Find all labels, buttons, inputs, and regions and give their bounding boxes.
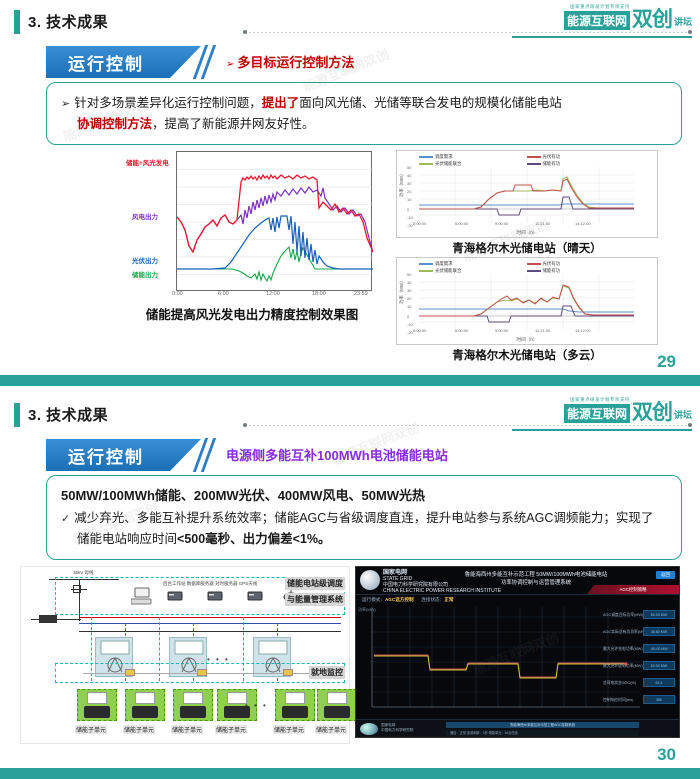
status-conn-value: 正常 <box>444 597 453 602</box>
section-banner-1: 运行控制 ➢多目标运行控制方法 <box>46 46 700 78</box>
header-accent-bar <box>14 403 20 427</box>
legend-label-wind: 风电出力 <box>132 211 158 221</box>
battery-unit-3 <box>173 689 213 721</box>
battery-unit-label-6: 储能子单元 <box>315 725 347 734</box>
chart-right-sunny-xlabel: 时间（h） <box>397 230 657 236</box>
xtick-0: 0:00 <box>172 291 183 297</box>
readout-label-5: 控制响应时间(ms) <box>603 698 633 703</box>
content-box-2: 50MW/100MWh储能、200MW光伏、400MW风电、50MW光热 ✓减少… <box>46 475 682 560</box>
ytick-neg20: -20 <box>407 223 413 228</box>
chart-right-cloudy-plot: 调度需求 光伏有功 光伏储能联合 储能有功 功率（MW） 时间（h） <box>396 257 658 345</box>
battery-unit-2 <box>125 689 165 721</box>
body-text-2a: 储能电站响应时间 <box>77 532 177 546</box>
legend-text-1: 光伏有功 <box>543 154 561 160</box>
brand-logo-main: 能源互联网 双创 讲坛 <box>512 10 692 30</box>
ytick-cneg10: -10 <box>407 322 413 327</box>
storage-station-architecture-diagram: 35kV 母线 后台工作站 数据库服务器 对时服务器 GPS天线 <box>20 566 350 744</box>
brand-name-sm: 讲坛 <box>674 15 692 30</box>
ytick-c30: 30 <box>407 288 411 293</box>
check-icon: ✓ <box>61 513 70 525</box>
xtick-c3: 11:21:00 <box>535 328 550 333</box>
xtick-s2: 9:00:00 <box>495 221 508 226</box>
brand-name-cn: 能源互联网 <box>564 11 630 30</box>
readout-value-0: 50.00 MW <box>643 610 675 619</box>
ytick-cneg20: -20 <box>407 330 413 335</box>
chart-right-sunny: 调度需求 光伏有功 光伏储能联合 储能有功 功率（MW） 时间（h） <box>396 150 658 256</box>
monitor-chart <box>370 607 640 715</box>
brand-name-big: 双创 <box>632 10 672 30</box>
readout-row: AGC调度目标功率(MW) 50.00 MW <box>603 609 675 626</box>
body-title: 50MW/100MWh储能、200MW光伏、400MW风电、50MW光热 <box>61 486 667 506</box>
xtick-1: 6:00 <box>218 291 229 297</box>
xtick-3: 18:00 <box>312 291 326 297</box>
charts-region: 储能+风光发电 风电出力 光伏出力 储能出力 <box>0 145 700 355</box>
chart-left-xaxis: 0:00 6:00 12:00 18:00 23:59 <box>176 291 372 301</box>
banner-slash-icon <box>196 438 218 472</box>
slide-header-2: 3. 技术成果 国家重点研发计划专项支持 能源互联网 双创 讲坛 <box>0 393 700 439</box>
body-paragraph-line1: ✓减少弃光、多能互补提升系统效率；储能AGC与省级调度直连，提升电站参与系统AG… <box>61 508 667 529</box>
local-mon-node-3 <box>283 669 293 676</box>
footer-status-bar: 鲁能海西州多能互补示范工程AGC控制系统 <box>446 722 639 728</box>
battery-unit-label-3: 储能子单元 <box>171 725 203 734</box>
xtick-c1: 6:00:00 <box>455 328 468 333</box>
slide-header: 3. 技术成果 国家重点研发计划专项支持 能源互联网 双创 讲坛 <box>0 0 700 46</box>
legend-label-pv: 光伏出力 <box>132 255 158 265</box>
readout-value-2: -50.00 MW <box>643 644 675 653</box>
section-banner-2: 运行控制 电源侧多能互补100MWh电池储能电站 <box>46 439 700 471</box>
legend-text-0: 调度需求 <box>435 154 453 160</box>
legend-text-c0: 调度需求 <box>435 261 453 267</box>
bullet-icon: ➢ <box>61 98 70 110</box>
page-number-30: 30 <box>657 745 676 765</box>
chart-right-cloudy-xlabel: 时间（h） <box>397 337 657 343</box>
status-mode-value: AGC远方控制 <box>385 597 414 602</box>
ytick-c40: 40 <box>407 280 411 285</box>
slide-29: 3. 技术成果 国家重点研发计划专项支持 能源互联网 双创 讲坛 运行控制 ➢多… <box>0 0 700 386</box>
readout-label-0: AGC调度目标功率(MW) <box>603 613 643 618</box>
brand-name-cn: 能源互联网 <box>564 404 630 423</box>
monitor-readouts-panel: AGC调度目标功率(MW) 50.00 MW AGC实际总有功功率(MW) 48… <box>603 609 675 711</box>
local-mon-node-1 <box>125 669 135 676</box>
body-text-a: 针对多场景差异化运行控制问题， <box>74 96 262 110</box>
content-box-1: ➢针对多场景差异化运行控制问题，提出了面向风光储、光储等联合发电的规模化储能电站… <box>46 82 682 145</box>
local-mon-node-2 <box>197 669 207 676</box>
body-text-1: 减少弃光、多能互补提升系统效率；储能AGC与省级调度直连，提升电站参与系统AGC… <box>74 511 653 525</box>
chart-right-cloudy-caption: 青海格尔木光储电站（多云） <box>396 347 658 363</box>
monitor-back-button[interactable]: 返回 <box>656 571 675 579</box>
xtick-s1: 6:00:00 <box>455 221 468 226</box>
readout-value-3: 50.00 MW <box>643 661 675 670</box>
readout-row: AGC实际总有功功率(MW) 48.60 MW <box>603 626 675 643</box>
footer-status-bar-2: 通信：正常 遥测刷新：1秒 储能单元：36台在线 <box>446 730 639 736</box>
ac-bus <box>79 631 341 632</box>
ytick-c20: 20 <box>407 296 411 301</box>
status-mode-label: 运行模式： <box>362 597 385 602</box>
server-rack-labels: 后台工作站 数据库服务器 对时服务器 GPS天线 <box>163 581 257 587</box>
institute-name-en: CHINA ELECTRIC POWER RESEARCH INSTITUTE <box>383 588 501 594</box>
xtick-s3: 11:21:00 <box>535 221 550 226</box>
xtick-c4: 14:12:00 <box>575 328 591 333</box>
chart-right-cloudy-svg <box>419 274 634 330</box>
monitor-footer: 国家电网 中国电力科学研究院 鲁能海西州多能互补示范工程AGC控制系统 通信：正… <box>356 719 679 737</box>
footer-band-1 <box>0 375 700 386</box>
section-subtitle: ➢多目标运行控制方法 <box>226 52 354 71</box>
readout-row: 控制响应时间(ms) 380 <box>603 694 675 711</box>
xtick-2: 12:00 <box>266 291 280 297</box>
ytick-neg10: -10 <box>407 215 413 220</box>
brand-logo-main: 能源互联网 双创 讲坛 <box>512 403 692 423</box>
battery-unit-label-5: 储能子单元 <box>273 725 305 734</box>
readout-row: 最大允许充电功率(MW) -50.00 MW <box>603 643 675 660</box>
battery-unit-label-2: 储能子单元 <box>123 725 155 734</box>
body-text-highlight-1: 提出了 <box>262 96 300 110</box>
bus-label: 35kV 母线 <box>73 570 94 576</box>
server-icon-3 <box>247 589 263 608</box>
server-icon-1 <box>167 589 183 608</box>
chart-left-svg <box>177 152 373 292</box>
server-icon-2 <box>207 589 223 608</box>
chart-right-sunny-ylabel: 功率（MW） <box>399 172 405 197</box>
state-grid-logo-icon <box>360 570 380 590</box>
diagram-ellipsis-bottom: • • • <box>245 701 268 710</box>
legend-item-c1: 光伏有功 <box>527 261 635 267</box>
section-banner-label: 运行控制 <box>46 46 201 78</box>
monitor-title: 鲁能海西州多能互补示范工程 50MW/100MWh电池储能电站 功率协调控制与运… <box>446 571 626 587</box>
ytick-c50: 50 <box>407 272 411 277</box>
ytick-40: 40 <box>407 173 411 178</box>
chart-left-plot <box>176 151 372 291</box>
ytick-0: 0 <box>407 207 409 212</box>
footer-title-text: 国家电网 <box>381 723 395 727</box>
body-paragraph-line2: 储能电站响应时间<500毫秒、出力偏差<1%。 <box>61 529 667 549</box>
ytick-20: 20 <box>407 189 411 194</box>
section-banner-label: 运行控制 <box>46 439 201 471</box>
slide-30: 3. 技术成果 国家重点研发计划专项支持 能源互联网 双创 讲坛 运行控制 电源… <box>0 393 700 779</box>
readout-value-1: 48.60 MW <box>643 627 675 636</box>
ytick-50: 50 <box>407 165 411 170</box>
ytick-10: 10 <box>407 197 411 202</box>
comm-bus-blue <box>79 623 341 624</box>
ytick-c10: 10 <box>407 304 411 309</box>
xtick-s4: 14:12:00 <box>575 221 591 226</box>
readout-label-1: AGC实际总有功功率(MW) <box>603 630 647 635</box>
legend-item-0: 调度需求 <box>419 154 527 160</box>
slide-gap <box>0 386 700 393</box>
chart-right-sunny-legend: 调度需求 光伏有功 光伏储能联合 储能有功 <box>419 154 634 168</box>
arrow-icon: ➢ <box>226 59 234 70</box>
battery-unit-5 <box>275 689 315 721</box>
transformer-icon <box>39 615 57 623</box>
section-subtitle-text: 多目标运行控制方法 <box>237 55 354 70</box>
brand-name-big: 双创 <box>632 403 672 423</box>
xtick-c2: 9:00:00 <box>495 328 508 333</box>
readout-label-4: 总荷电状态SOC(%) <box>603 681 636 686</box>
legend-item-1: 光伏有功 <box>527 154 635 160</box>
chart-right-cloudy-legend: 调度需求 光伏有功 光伏储能联合 储能有功 <box>419 261 634 275</box>
chart-right-sunny-caption: 青海格尔木光储电站（晴天） <box>396 240 658 256</box>
legend-label-storage-wind-pv: 储能+风光发电 <box>126 157 169 167</box>
body-text-c: ，提高了新能源并网友好性。 <box>152 117 315 131</box>
status-conn-label: 连接状态： <box>421 597 444 602</box>
body-text-highlight-2: 协调控制方法 <box>77 117 152 131</box>
header-dot-left <box>243 30 247 34</box>
brand-logo: 国家重点研发计划专项支持 能源互联网 双创 讲坛 <box>512 397 692 431</box>
footer-band-2 <box>0 768 700 779</box>
page-title: 3. 技术成果 <box>28 404 108 425</box>
legend-text-c1: 光伏有功 <box>543 261 561 267</box>
footer-sub-text: 中国电力科学研究院 <box>381 728 413 732</box>
chart-right-sunny-plot: 调度需求 光伏有功 光伏储能联合 储能有功 功率（MW） 时间（h） <box>396 150 658 238</box>
agc-monitoring-screenshot[interactable]: 国家电网 STATE GRID 中国电力科学研究院有限公司 CHINA ELEC… <box>355 566 680 738</box>
monitor-chart-svg <box>370 607 640 715</box>
battery-unit-6 <box>317 689 357 721</box>
battery-unit-label-4: 储能子单元 <box>215 725 247 734</box>
chart-right-cloudy-ylabel: 功率（MW） <box>399 279 405 304</box>
chart-left: 储能+风光发电 风电出力 光伏出力 储能出力 <box>128 151 376 323</box>
body-text-2b: <500毫秒、出力偏差<1%。 <box>177 532 331 546</box>
page-title: 3. 技术成果 <box>28 11 108 32</box>
brand-logo: 国家重点研发计划专项支持 能源互联网 双创 讲坛 <box>512 4 692 38</box>
monitor-title-line2: 功率协调控制与运营管理系统 <box>501 580 571 586</box>
ytick-c0: 0 <box>407 314 409 319</box>
monitor-agc-tab[interactable]: AGC控制策略 <box>587 585 679 594</box>
brand-name-sm: 讲坛 <box>674 408 692 423</box>
monitor-title-line1: 鲁能海西州多能互补示范工程 50MW/100MWh电池储能电站 <box>465 572 608 578</box>
xtick-s0: 0:00:00 <box>413 221 426 226</box>
readout-row: 最大允许放电功率(MW) 50.00 MW <box>603 660 675 677</box>
body-paragraph-line1: ➢针对多场景差异化运行控制问题，提出了面向风光储、光储等联合发电的规模化储能电站 <box>61 93 667 114</box>
legend-label-storage: 储能出力 <box>132 269 158 279</box>
chart-right-cloudy: 调度需求 光伏有功 光伏储能联合 储能有功 功率（MW） 时间（h） <box>396 257 658 363</box>
footer-logo-icon <box>360 723 378 735</box>
monitor-status-bar: 运行模式：AGC远方控制 连接状态：正常 <box>362 597 453 603</box>
station-scheduling-label-1: 储能电站级调度 <box>285 577 345 590</box>
local-monitoring-label: 就地监控 <box>309 666 345 679</box>
page-number-29: 29 <box>657 352 676 372</box>
banner-slash-icon <box>196 45 218 79</box>
xtick-c0: 0:00:00 <box>413 328 426 333</box>
workstation-icon <box>131 587 155 612</box>
readout-value-4: 62.4 <box>643 678 675 687</box>
slide2-visuals: 35kV 母线 后台工作站 数据库服务器 对时服务器 GPS天线 <box>0 566 700 746</box>
readout-label-2: 最大允许充电功率(MW) <box>603 647 643 652</box>
comm-bus-red <box>79 617 341 618</box>
readout-label-3: 最大允许放电功率(MW) <box>603 664 643 669</box>
station-scheduling-label-2: 与能量管理系统 <box>285 593 345 606</box>
header-accent-bar <box>14 10 20 34</box>
chart-right-sunny-svg <box>419 167 634 223</box>
ytick-30: 30 <box>407 181 411 186</box>
xtick-4: 23:59 <box>354 291 368 297</box>
battery-unit-1 <box>77 689 117 721</box>
section-subtitle: 电源侧多能互补100MWh电池储能电站 <box>226 445 448 464</box>
readout-row: 总荷电状态SOC(%) 62.4 <box>603 677 675 694</box>
body-paragraph-line2: 协调控制方法，提高了新能源并网友好性。 <box>61 114 667 134</box>
chart-left-caption: 储能提高风光发电出力精度控制效果图 <box>128 304 376 323</box>
header-dot-left <box>243 423 247 427</box>
legend-item-c0: 调度需求 <box>419 261 527 267</box>
readout-value-5: 380 <box>643 695 675 704</box>
body-text-b: 面向风光储、光储等联合发电的规模化储能电站 <box>299 96 562 110</box>
footer-company: 国家电网 中国电力科学研究院 <box>381 723 413 733</box>
battery-unit-label-1: 储能子单元 <box>75 725 107 734</box>
